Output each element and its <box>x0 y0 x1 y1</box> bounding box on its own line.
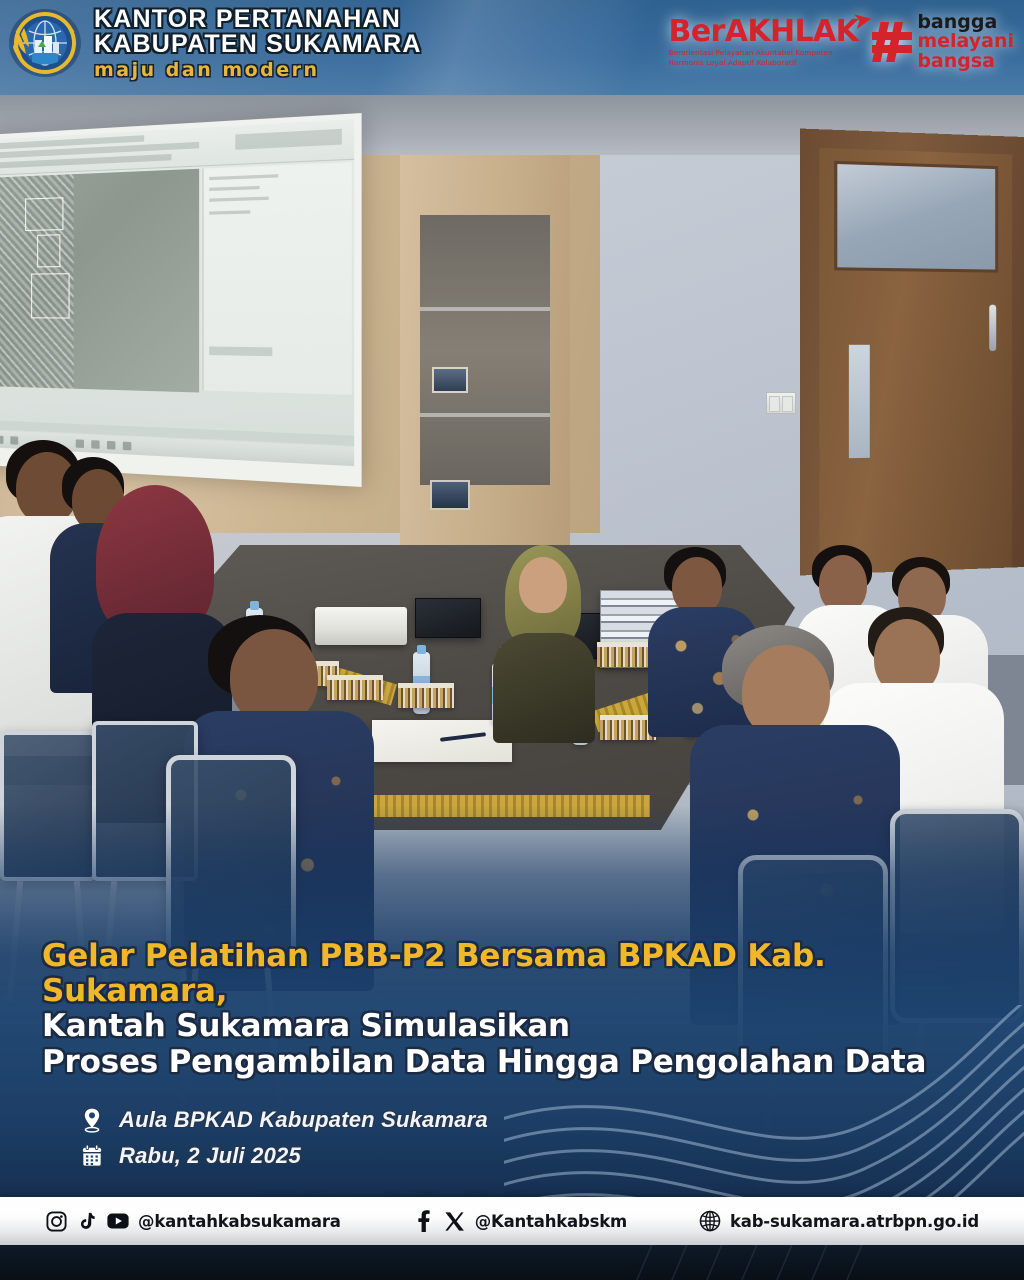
calendar-icon <box>80 1142 104 1170</box>
berakhlak-wordmark: BerAKHLAK <box>669 17 859 47</box>
door-vision-slit <box>849 345 870 458</box>
headline-line-2: Kantah Sukamara Simulasikan <box>42 1009 982 1044</box>
door-leaf <box>819 148 1012 575</box>
taskbar-icon <box>10 436 18 444</box>
shelf-niche <box>420 215 550 485</box>
tiktok-icon[interactable] <box>76 1210 98 1232</box>
wall-photo-frame-1 <box>432 367 468 393</box>
event-location-row: Aula BPKAD Kabupaten Sukamara <box>80 1106 982 1134</box>
social-handle-2[interactable]: @Kantahkabskm <box>475 1212 627 1231</box>
door-handle <box>989 305 996 351</box>
shelf-1 <box>420 307 550 311</box>
laptop-1 <box>415 598 481 638</box>
gis-map-canvas <box>0 169 199 393</box>
header-titles: KANTOR PERTANAHAN KABUPATEN SUKAMARA maj… <box>94 5 422 80</box>
taskbar-icon <box>0 435 3 443</box>
shelf-2 <box>420 413 550 417</box>
social-group-instagram-tiktok-youtube: @kantahkabsukamara <box>45 1210 341 1232</box>
social-handle-1[interactable]: @kantahkabsukamara <box>138 1212 341 1231</box>
event-date-row: Rabu, 2 Juli 2025 <box>80 1142 982 1170</box>
location-pin-icon <box>80 1106 104 1134</box>
headline-line-3: Proses Pengambilan Data Hingga Pengolaha… <box>42 1045 982 1080</box>
parcel-polygon-1 <box>25 197 63 231</box>
bottom-strip-lines <box>624 1245 904 1280</box>
berakhlak-arrow-icon: ➤ <box>852 7 874 35</box>
torso <box>493 633 595 743</box>
room-door <box>800 129 1024 576</box>
head <box>519 557 567 613</box>
parcel-polygon-3 <box>31 273 69 318</box>
poster-header: KANTOR PERTANAHAN KABUPATEN SUKAMARA maj… <box>0 0 1024 95</box>
headline-line-1: Gelar Pelatihan PBB-P2 Bersama BPKAD Kab… <box>42 939 982 1010</box>
taskbar-icon <box>76 439 84 448</box>
taskbar-icon <box>123 441 132 450</box>
org-tagline: maju dan modern <box>94 61 422 80</box>
snack-box <box>398 683 454 708</box>
headline: Gelar Pelatihan PBB-P2 Bersama BPKAD Kab… <box>42 939 982 1080</box>
text-overlay: Gelar Pelatihan PBB-P2 Bersama BPKAD Kab… <box>0 805 1024 1245</box>
projector-device <box>315 607 407 645</box>
door-glass-panel <box>834 161 998 273</box>
globe-icon[interactable] <box>699 1210 721 1232</box>
header-branding: KANTOR PERTANAHAN KABUPATEN SUKAMARA maj… <box>8 5 422 80</box>
taskbar-icon <box>91 440 99 449</box>
bangga-line-3: bangsa <box>917 52 1014 71</box>
event-date-text: Rabu, 2 Juli 2025 <box>119 1143 301 1169</box>
bangga-line-2: melayani <box>917 32 1014 51</box>
atr-bpn-logo <box>8 6 82 80</box>
header-logos: BerAKHLAK ➤ Berorientasi Pelayanan Akunt… <box>669 13 1014 71</box>
event-meta: Aula BPKAD Kabupaten Sukamara <box>80 1106 982 1170</box>
bangga-wordmark: bangga melayani bangsa <box>917 13 1014 71</box>
youtube-icon[interactable] <box>107 1210 129 1232</box>
wall-photo-frame-2 <box>430 480 470 510</box>
parcel-polygon-2 <box>37 234 60 267</box>
x-twitter-icon[interactable] <box>444 1210 466 1232</box>
facebook-icon[interactable] <box>413 1210 435 1232</box>
wall-light-switch <box>766 392 796 414</box>
hashtag-icon <box>872 20 912 64</box>
poster-footer: @kantahkabsukamara @Kantahkabskm <box>0 1197 1024 1245</box>
snack-box <box>327 675 383 700</box>
bottom-strip <box>0 1245 1024 1280</box>
snack-box <box>597 642 653 667</box>
org-line-2: KABUPATEN SUKAMARA <box>94 32 422 57</box>
bangga-melayani-bangsa-logo: bangga melayani bangsa <box>872 13 1014 71</box>
projection-screen <box>0 113 362 487</box>
berakhlak-subtitle-1: Berorientasi Pelayanan Akuntabel Kompete… <box>669 48 859 57</box>
website-group: kab-sukamara.atrbpn.go.id <box>699 1210 979 1232</box>
poster-root: KANTOR PERTANAHAN KABUPATEN SUKAMARA maj… <box>0 0 1024 1280</box>
gis-side-panel <box>202 162 352 395</box>
website-url[interactable]: kab-sukamara.atrbpn.go.id <box>730 1212 979 1231</box>
berakhlak-subtitle-2: Harmonis Loyal Adaptif Kolaboratif <box>669 58 859 67</box>
social-group-facebook-x: @Kantahkabskm <box>413 1210 627 1232</box>
event-location-text: Aula BPKAD Kabupaten Sukamara <box>119 1107 488 1133</box>
taskbar-icon <box>107 440 115 449</box>
instagram-icon[interactable] <box>45 1210 67 1232</box>
org-line-1: KANTOR PERTANAHAN <box>94 7 422 32</box>
berakhlak-logo: BerAKHLAK ➤ Berorientasi Pelayanan Akunt… <box>669 17 859 67</box>
screen-content <box>0 119 354 466</box>
